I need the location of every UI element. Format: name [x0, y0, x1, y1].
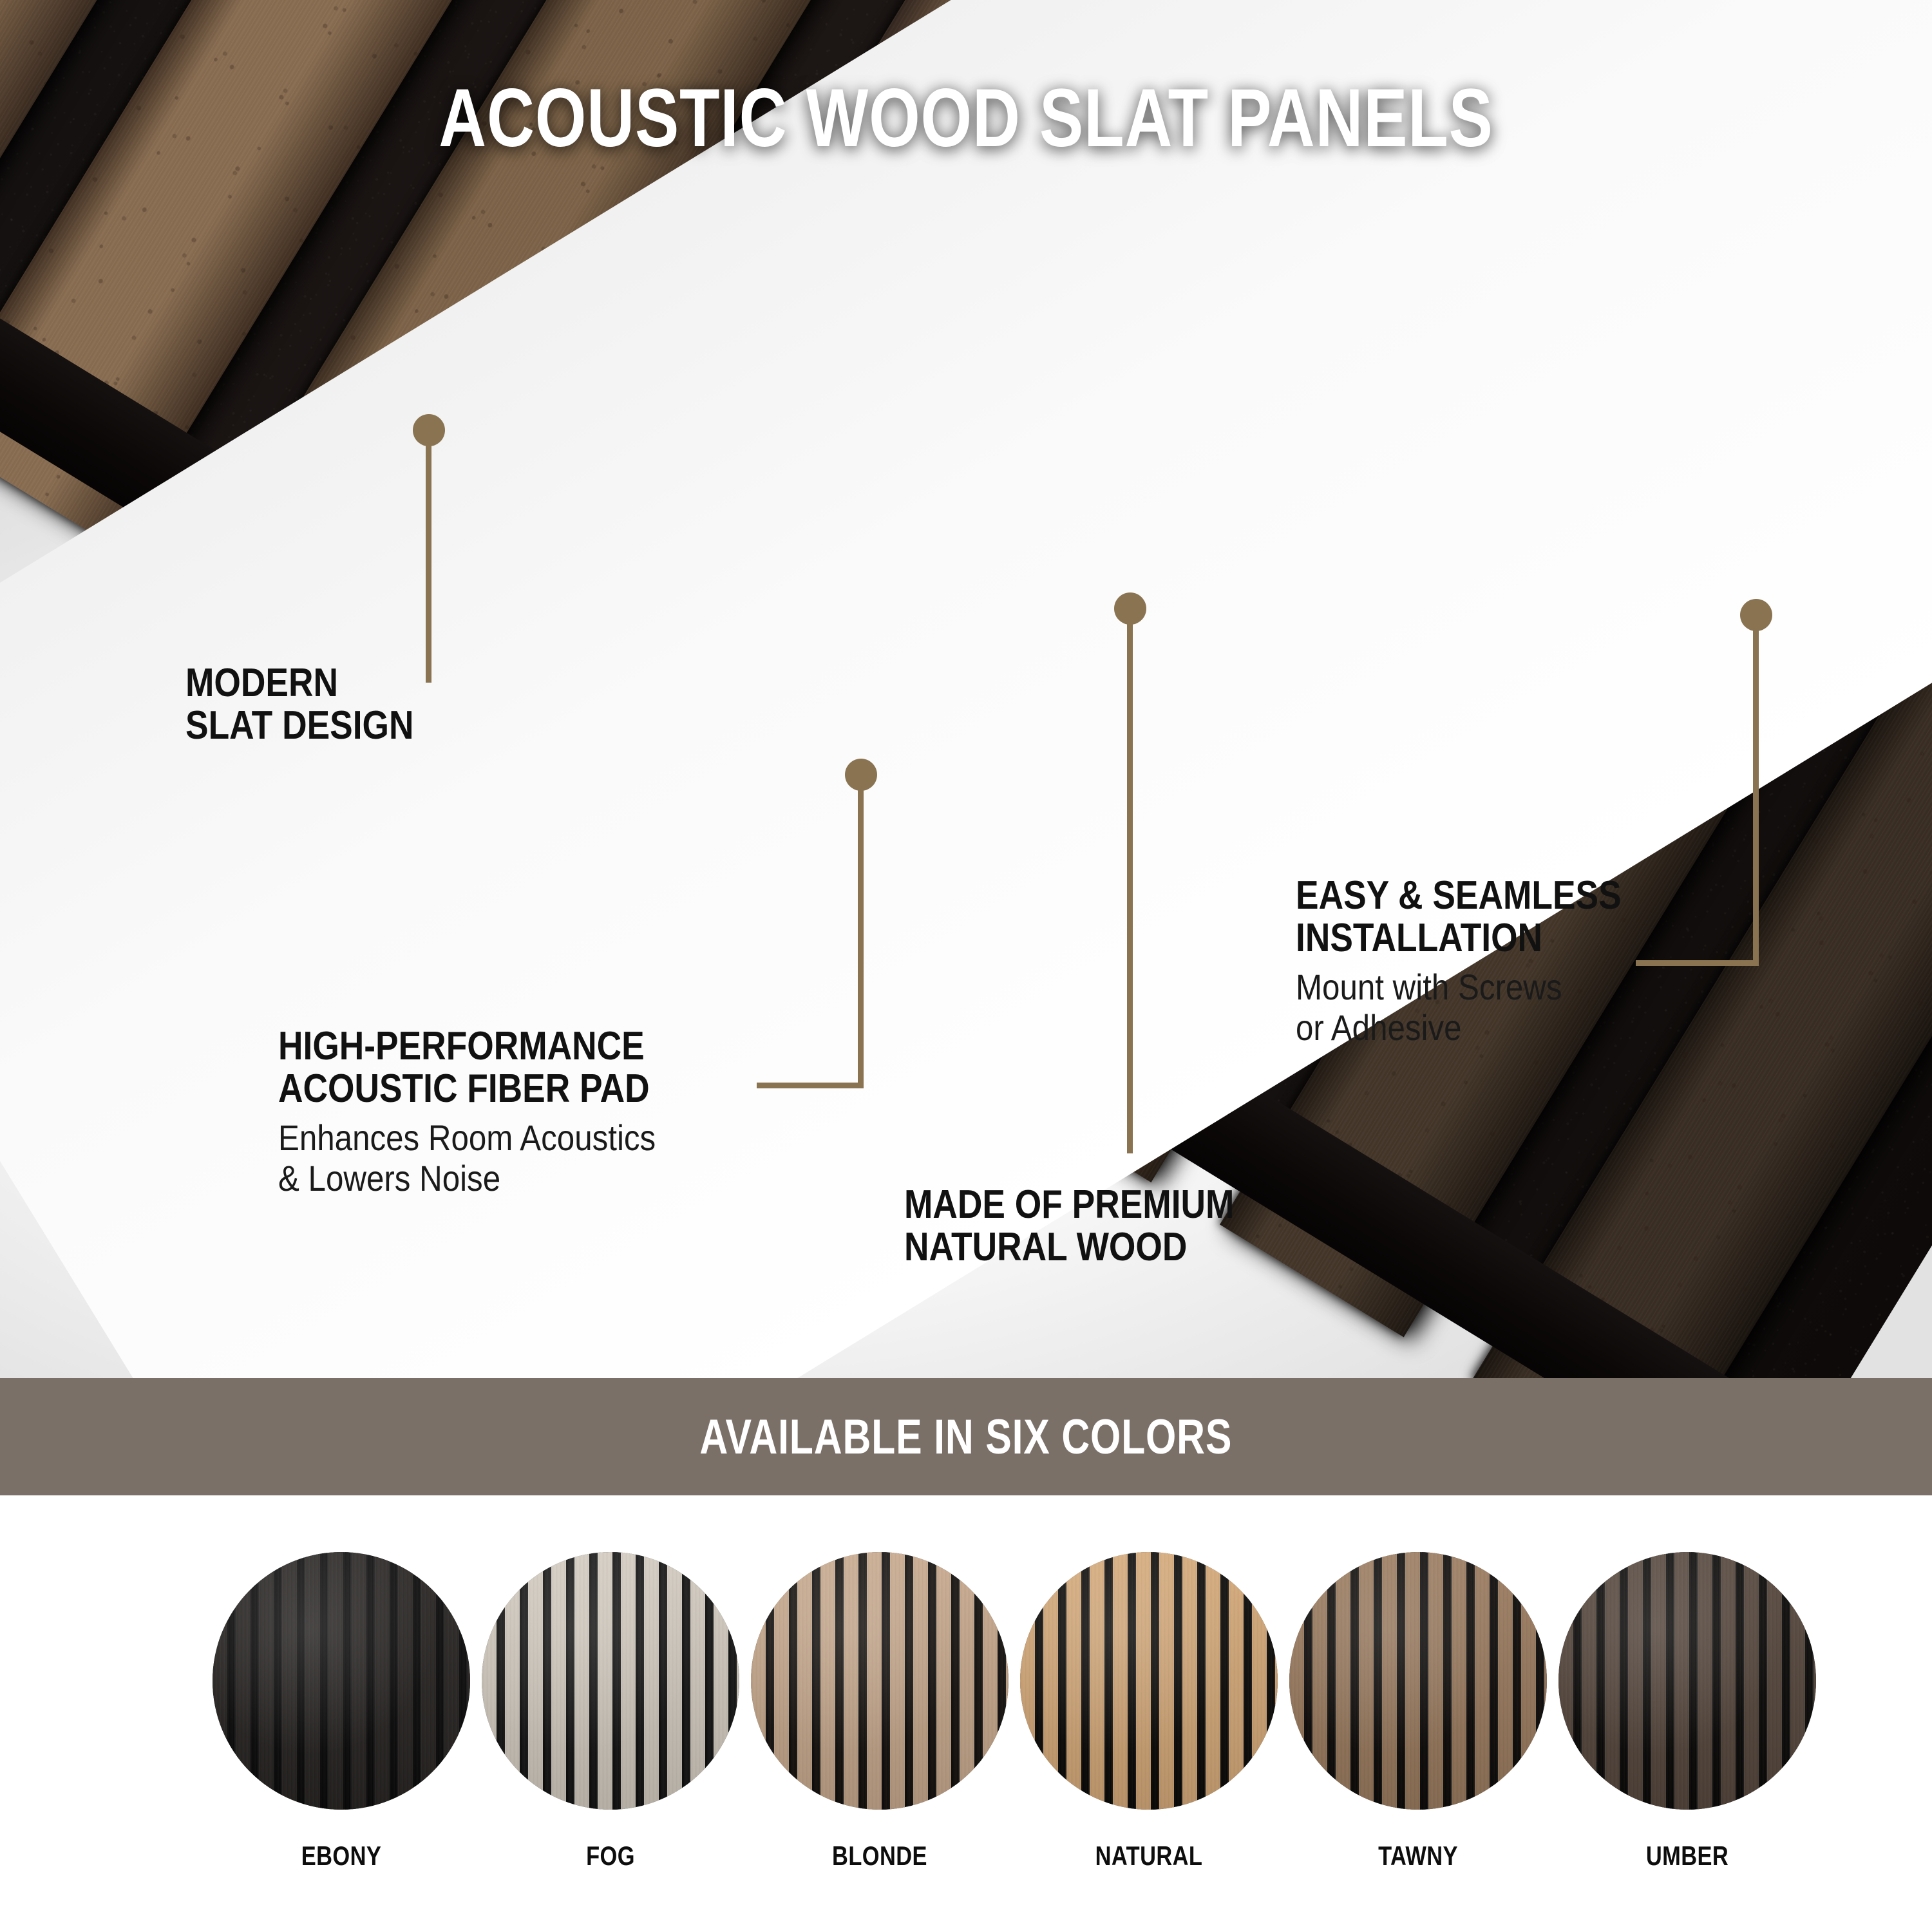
callout-sub-line1: Enhances Room Acoustics: [278, 1117, 658, 1158]
callout-premium-natural-wood: MADE OF PREMIUM NATURAL WOOD: [904, 1184, 1288, 1269]
callout-heading-line1: MADE OF PREMIUM: [904, 1184, 1234, 1226]
color-swatch-umber[interactable]: UMBER: [1558, 1552, 1816, 1871]
swatch-lighting: [213, 1552, 470, 1810]
leader-line-acoustic-fiber-pad-elbow: [757, 1083, 864, 1088]
swatch-label: BLONDE: [774, 1841, 985, 1871]
swatch-label: TAWNY: [1312, 1841, 1524, 1871]
callout-heading-line1: EASY & SEAMLESS: [1296, 875, 1622, 917]
swatch-label: UMBER: [1582, 1841, 1793, 1871]
swatch-lighting: [1558, 1552, 1816, 1810]
available-colors-banner: AVAILABLE IN SIX COLORS: [0, 1378, 1932, 1495]
callout-easy-installation: EASY & SEAMLESS INSTALLATION Mount with …: [1296, 875, 1674, 1048]
callout-heading-line1: HIGH-PERFORMANCE: [278, 1025, 650, 1068]
callout-modern-slat-design: MODERN SLAT DESIGN: [185, 662, 451, 748]
callout-sub-line2: or Adhesive: [1296, 1007, 1629, 1048]
swatch-circle[interactable]: [1289, 1552, 1547, 1810]
leader-line-easy-installation-vertical: [1753, 615, 1759, 966]
callout-heading-line2: ACOUSTIC FIBER PAD: [278, 1068, 650, 1110]
color-swatch-natural[interactable]: NATURAL: [1020, 1552, 1278, 1871]
leader-line-acoustic-fiber-pad-vertical: [858, 775, 864, 1088]
swatch-circle[interactable]: [1020, 1552, 1278, 1810]
callout-heading-line1: MODERN: [185, 662, 413, 705]
callout-sub-line1: Mount with Screws: [1296, 967, 1629, 1007]
callout-heading-line2: NATURAL WOOD: [904, 1226, 1234, 1269]
callout-heading-line2: INSTALLATION: [1296, 917, 1622, 960]
color-swatch-row: EBONYFOGBLONDENATURALTAWNYUMBER: [0, 1495, 1932, 1932]
swatch-circle[interactable]: [751, 1552, 1009, 1810]
leader-line-premium-natural-wood: [1127, 609, 1133, 1153]
infographic-canvas: ACOUSTIC WOOD SLAT PANELS MODERN SLAT DE…: [0, 0, 1932, 1932]
swatch-label: EBONY: [236, 1841, 447, 1871]
color-swatch-blonde[interactable]: BLONDE: [751, 1552, 1009, 1871]
page-title: ACOUSTIC WOOD SLAT PANELS: [193, 77, 1739, 160]
banner-label: AVAILABLE IN SIX COLORS: [700, 1409, 1233, 1465]
swatch-label: NATURAL: [1043, 1841, 1255, 1871]
color-swatch-ebony[interactable]: EBONY: [213, 1552, 470, 1871]
swatch-label: FOG: [505, 1841, 716, 1871]
leader-line-modern-slat-design: [426, 430, 431, 683]
callout-heading-line2: SLAT DESIGN: [185, 705, 413, 747]
swatch-lighting: [751, 1552, 1009, 1810]
swatch-circle[interactable]: [482, 1552, 739, 1810]
swatch-lighting: [1020, 1552, 1278, 1810]
color-swatch-fog[interactable]: FOG: [482, 1552, 739, 1871]
swatch-lighting: [1289, 1552, 1547, 1810]
product-photo-hero: ACOUSTIC WOOD SLAT PANELS MODERN SLAT DE…: [0, 0, 1932, 1378]
swatch-circle[interactable]: [1558, 1552, 1816, 1810]
callout-sub-line2: & Lowers Noise: [278, 1158, 658, 1198]
color-swatch-tawny[interactable]: TAWNY: [1289, 1552, 1547, 1871]
callout-acoustic-fiber-pad: HIGH-PERFORMANCE ACOUSTIC FIBER PAD Enha…: [278, 1025, 710, 1198]
swatch-lighting: [482, 1552, 739, 1810]
swatch-circle[interactable]: [213, 1552, 470, 1810]
